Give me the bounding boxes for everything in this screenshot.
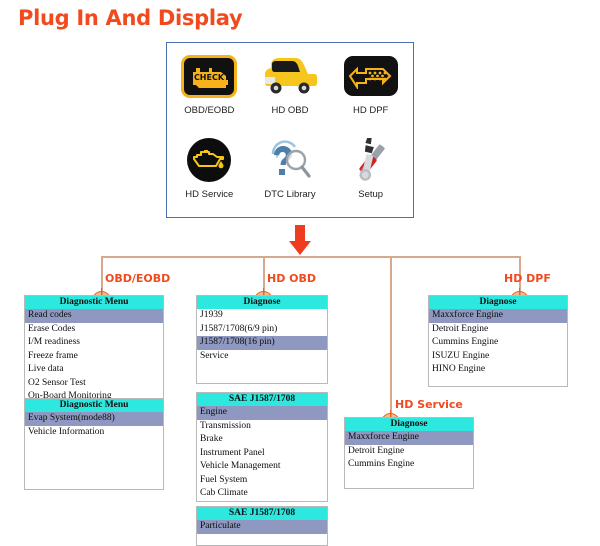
menu-item[interactable]: Transmission bbox=[197, 420, 327, 434]
menu-item[interactable]: J1587/1708(6/9 pin) bbox=[197, 323, 327, 337]
app-tile-setup[interactable]: Setup bbox=[330, 131, 411, 215]
branch-label-hd-obd: HD OBD bbox=[267, 272, 316, 285]
menu-item[interactable]: Particulate bbox=[197, 520, 327, 534]
menu-item[interactable]: Maxxforce Engine bbox=[345, 431, 473, 445]
panel-obd-primary: Diagnostic Menu Read codes Erase Codes I… bbox=[24, 295, 164, 405]
panel-header: Diagnostic Menu bbox=[25, 399, 163, 412]
menu-item[interactable]: Vehicle Information bbox=[25, 426, 163, 440]
truck-icon bbox=[262, 50, 318, 102]
down-arrow-icon bbox=[289, 225, 311, 255]
svg-text:CHECK: CHECK bbox=[194, 73, 225, 82]
panel-header: Diagnose bbox=[345, 418, 473, 431]
menu-item[interactable]: Erase Codes bbox=[25, 323, 163, 337]
panel-header: Diagnostic Menu bbox=[25, 296, 163, 309]
app-tile-label: OBD/EOBD bbox=[184, 106, 234, 116]
panel-hdobd-secondary: SAE J1587/1708 Engine Transmission Brake… bbox=[196, 392, 328, 502]
app-tile-label: HD Service bbox=[185, 190, 233, 200]
panel-obd-secondary: Diagnostic Menu Evap System(mode88) Vehi… bbox=[24, 398, 164, 490]
check-engine-icon: CHECK bbox=[181, 50, 237, 102]
branch-label-obd-eobd: OBD/EOBD bbox=[105, 272, 170, 285]
panel-hdobd-tertiary: SAE J1587/1708 Particulate bbox=[196, 506, 328, 546]
menu-item[interactable]: Cummins Engine bbox=[345, 458, 473, 472]
panel-header: SAE J1587/1708 bbox=[197, 393, 327, 406]
menu-item[interactable]: Cummins Engine bbox=[429, 336, 567, 350]
menu-item[interactable]: Cab Climate bbox=[197, 487, 327, 501]
menu-item[interactable]: J1939 bbox=[197, 309, 327, 323]
app-tile-label: HD OBD bbox=[272, 106, 309, 116]
menu-item[interactable]: J1587/1708(16 pin) bbox=[197, 336, 327, 350]
dpf-filter-icon bbox=[343, 50, 399, 102]
menu-item[interactable]: Service bbox=[197, 350, 327, 364]
branch-label-hd-dpf: HD DPF bbox=[504, 272, 551, 285]
menu-item[interactable]: Read codes bbox=[25, 309, 163, 323]
panel-header: SAE J1587/1708 bbox=[197, 507, 327, 520]
app-tile-hd-dpf[interactable]: HD DPF bbox=[330, 47, 411, 131]
panel-hdobd-primary: Diagnose J1939 J1587/1708(6/9 pin) J1587… bbox=[196, 295, 328, 384]
app-tile-hd-obd[interactable]: HD OBD bbox=[250, 47, 331, 131]
app-tile-obd-eobd[interactable]: CHECK OBD/EOBD bbox=[169, 47, 250, 131]
menu-item[interactable]: Detroit Engine bbox=[345, 445, 473, 459]
app-tile-hd-service[interactable]: HD Service bbox=[169, 131, 250, 215]
menu-item[interactable]: I/M readiness bbox=[25, 336, 163, 350]
menu-item[interactable]: Instrument Panel bbox=[197, 447, 327, 461]
tools-icon bbox=[343, 134, 399, 186]
device-screen-panel: CHECK OBD/EOBD HD OBD bbox=[166, 42, 414, 218]
panel-header: Diagnose bbox=[197, 296, 327, 309]
app-tile-label: DTC Library bbox=[264, 190, 315, 200]
question-magnifier-icon bbox=[262, 134, 318, 186]
menu-item[interactable]: O2 Sensor Test bbox=[25, 377, 163, 391]
menu-item[interactable]: ISUZU Engine bbox=[429, 350, 567, 364]
page-title: Plug In And Display bbox=[18, 6, 242, 30]
menu-item[interactable]: Maxxforce Engine bbox=[429, 309, 567, 323]
menu-item[interactable]: Evap System(mode88) bbox=[25, 412, 163, 426]
panel-hdservice: Diagnose Maxxforce Engine Detroit Engine… bbox=[344, 417, 474, 489]
branch-label-hd-service: HD Service bbox=[395, 398, 463, 411]
app-tile-label: Setup bbox=[358, 190, 383, 200]
menu-item[interactable]: Engine bbox=[197, 406, 327, 420]
oil-can-icon bbox=[181, 134, 237, 186]
panel-header: Diagnose bbox=[429, 296, 567, 309]
menu-item[interactable]: Detroit Engine bbox=[429, 323, 567, 337]
menu-item[interactable]: Fuel System bbox=[197, 474, 327, 488]
tree-drop-hd-service bbox=[390, 256, 392, 422]
panel-hddpf: Diagnose Maxxforce Engine Detroit Engine… bbox=[428, 295, 568, 387]
app-tile-dtc-library[interactable]: DTC Library bbox=[250, 131, 331, 215]
menu-item[interactable]: Live data bbox=[25, 363, 163, 377]
app-tile-label: HD DPF bbox=[353, 106, 388, 116]
menu-item[interactable]: Vehicle Management bbox=[197, 460, 327, 474]
tree-bus-horizontal bbox=[101, 256, 520, 258]
menu-item[interactable]: HINO Engine bbox=[429, 363, 567, 377]
menu-item[interactable]: Brake bbox=[197, 433, 327, 447]
menu-item[interactable]: Freeze frame bbox=[25, 350, 163, 364]
